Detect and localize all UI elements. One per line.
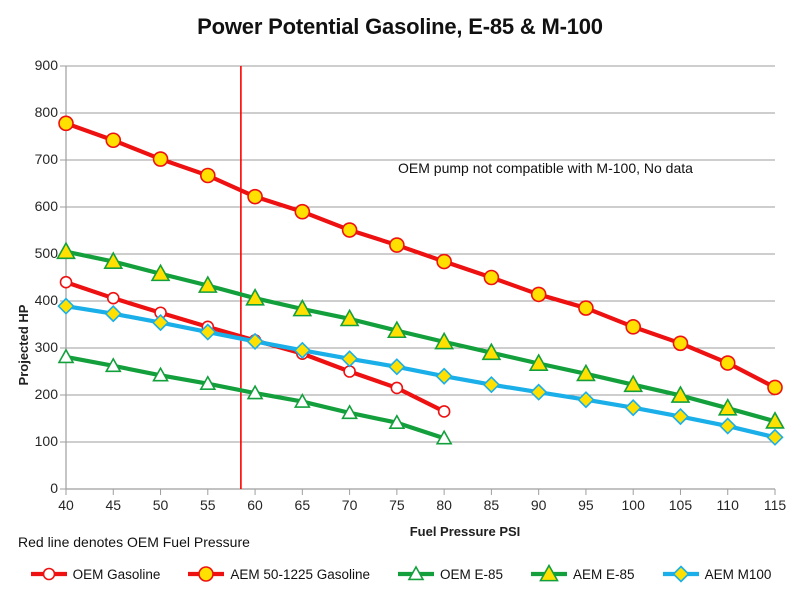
data-point-marker — [530, 355, 547, 370]
data-point-marker — [344, 366, 355, 377]
x-tick-label: 65 — [282, 497, 322, 513]
series-aem-50-1225-gasoline — [59, 116, 782, 394]
data-point-marker — [721, 356, 735, 370]
series-oem-gasoline — [61, 277, 450, 417]
data-point-marker — [768, 380, 782, 394]
data-point-marker — [625, 376, 642, 391]
data-point-marker — [59, 350, 73, 362]
data-point-marker — [437, 431, 451, 443]
data-point-marker — [436, 333, 453, 348]
data-point-marker — [250, 335, 261, 346]
data-point-marker — [673, 567, 688, 582]
legend-label: AEM M100 — [705, 567, 772, 582]
chart-container: Power Potential Gasoline, E-85 & M-100 P… — [0, 0, 800, 600]
series-aem-m100 — [59, 299, 783, 445]
legend-swatch-icon — [661, 564, 701, 584]
series-aem-e-85 — [58, 243, 784, 428]
data-point-marker — [342, 351, 357, 366]
data-point-marker — [59, 116, 73, 130]
x-axis-label: Fuel Pressure PSI — [410, 524, 521, 539]
y-tick-label: 700 — [12, 151, 58, 167]
data-point-marker — [295, 395, 309, 407]
data-point-marker — [767, 413, 784, 428]
legend-item-oem-gasoline[interactable]: OEM Gasoline — [29, 564, 161, 584]
series-line — [66, 306, 775, 437]
legend-label: AEM E-85 — [573, 567, 635, 582]
x-tick-label: 80 — [424, 497, 464, 513]
y-tick-label: 400 — [12, 292, 58, 308]
y-tick-label: 200 — [12, 386, 58, 402]
legend-item-aem-e-85[interactable]: AEM E-85 — [529, 564, 635, 584]
data-point-marker — [484, 377, 499, 392]
legend-label: AEM 50-1225 Gasoline — [230, 567, 370, 582]
data-point-marker — [295, 343, 310, 358]
data-point-marker — [768, 430, 783, 445]
data-point-marker — [199, 567, 213, 581]
data-point-marker — [391, 382, 402, 393]
data-point-marker — [626, 320, 640, 334]
data-point-marker — [531, 385, 546, 400]
x-tick-label: 95 — [566, 497, 606, 513]
y-tick-label: 0 — [12, 480, 58, 496]
data-point-marker — [673, 409, 688, 424]
legend-item-oem-e-85[interactable]: OEM E-85 — [396, 564, 503, 584]
data-point-marker — [484, 271, 498, 285]
x-tick-label: 75 — [377, 497, 417, 513]
annotation-red-line-note: Red line denotes OEM Fuel Pressure — [18, 534, 250, 550]
data-point-marker — [200, 325, 215, 340]
data-point-marker — [106, 133, 120, 147]
data-point-marker — [43, 569, 54, 580]
data-point-marker — [297, 348, 308, 359]
data-point-marker — [388, 322, 405, 337]
y-tick-label: 500 — [12, 245, 58, 261]
data-point-marker — [720, 419, 735, 434]
legend-item-aem-50-1225-gasoline[interactable]: AEM 50-1225 Gasoline — [186, 564, 370, 584]
x-tick-label: 70 — [330, 497, 370, 513]
data-point-marker — [343, 406, 357, 418]
data-point-marker — [439, 406, 450, 417]
legend-swatch-icon — [29, 564, 69, 584]
chart-title: Power Potential Gasoline, E-85 & M-100 — [0, 14, 800, 40]
x-tick-label: 60 — [235, 497, 275, 513]
x-tick-label: 85 — [471, 497, 511, 513]
y-tick-label: 100 — [12, 433, 58, 449]
data-point-marker — [341, 310, 358, 325]
data-point-marker — [532, 287, 546, 301]
legend-swatch-icon — [186, 564, 226, 584]
data-point-marker — [626, 400, 641, 415]
data-point-marker — [153, 315, 168, 330]
x-tick-label: 115 — [755, 497, 795, 513]
y-tick-label: 600 — [12, 198, 58, 214]
data-point-marker — [106, 306, 121, 321]
data-point-marker — [106, 359, 120, 371]
data-point-marker — [673, 336, 687, 350]
x-tick-label: 50 — [141, 497, 181, 513]
annotation-no-data: OEM pump not compatible with M-100, No d… — [398, 160, 693, 176]
data-point-marker — [247, 290, 264, 305]
series-oem-e-85 — [59, 350, 451, 444]
data-point-marker — [154, 152, 168, 166]
data-point-marker — [199, 277, 216, 292]
x-tick-label: 45 — [93, 497, 133, 513]
data-point-marker — [58, 243, 75, 258]
data-point-marker — [152, 265, 169, 280]
y-tick-label: 800 — [12, 104, 58, 120]
legend-item-aem-m100[interactable]: AEM M100 — [661, 564, 772, 584]
data-point-marker — [294, 300, 311, 315]
series-line — [66, 282, 444, 411]
x-tick-label: 90 — [519, 497, 559, 513]
x-tick-label: 105 — [660, 497, 700, 513]
data-point-marker — [105, 253, 122, 268]
data-point-marker — [437, 255, 451, 269]
y-tick-label: 900 — [12, 57, 58, 73]
data-point-marker — [201, 169, 215, 183]
data-point-marker — [295, 205, 309, 219]
legend-swatch-icon — [396, 564, 436, 584]
legend-label: OEM E-85 — [440, 567, 503, 582]
data-point-marker — [483, 344, 500, 359]
y-tick-label: 300 — [12, 339, 58, 355]
data-point-marker — [578, 392, 593, 407]
series-line — [66, 252, 775, 422]
data-point-marker — [343, 223, 357, 237]
data-point-marker — [154, 368, 168, 380]
data-point-marker — [390, 416, 404, 428]
data-point-marker — [248, 190, 262, 204]
data-point-marker — [248, 334, 263, 349]
data-point-marker — [248, 386, 262, 398]
x-tick-label: 40 — [46, 497, 86, 513]
data-point-marker — [61, 277, 72, 288]
data-point-marker — [672, 387, 689, 402]
data-point-marker — [719, 400, 736, 415]
data-point-marker — [389, 359, 404, 374]
data-point-marker — [390, 238, 404, 252]
data-point-marker — [201, 377, 215, 389]
data-point-marker — [577, 365, 594, 380]
x-tick-label: 110 — [708, 497, 748, 513]
data-point-marker — [202, 321, 213, 332]
x-tick-label: 55 — [188, 497, 228, 513]
data-point-marker — [579, 301, 593, 315]
data-point-marker — [59, 299, 74, 314]
x-axis-tick-labels: 404550556065707580859095100105110115 — [0, 497, 800, 519]
series-line — [66, 357, 444, 438]
data-point-marker — [155, 307, 166, 318]
data-point-marker — [108, 293, 119, 304]
legend-label: OEM Gasoline — [73, 567, 161, 582]
x-tick-label: 100 — [613, 497, 653, 513]
legend-swatch-icon — [529, 564, 569, 584]
data-point-marker — [437, 369, 452, 384]
chart-legend: OEM GasolineAEM 50-1225 GasolineOEM E-85… — [0, 560, 800, 588]
